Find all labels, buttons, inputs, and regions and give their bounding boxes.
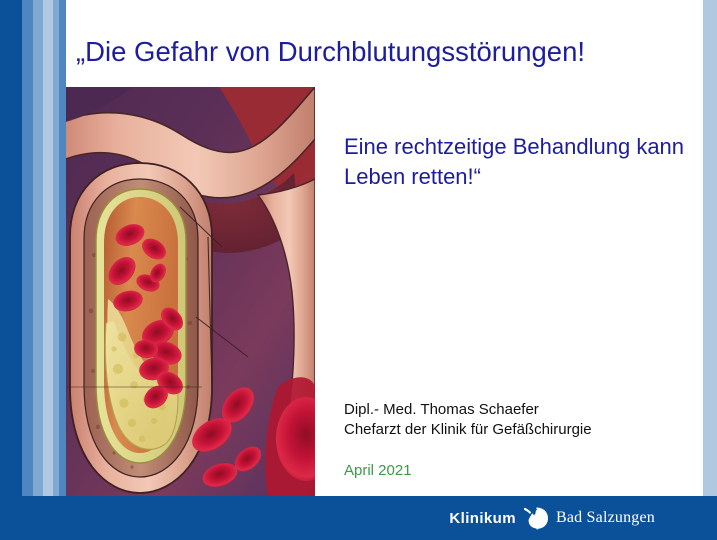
presentation-date: April 2021 <box>344 461 704 481</box>
logo-primary-text: Klinikum <box>449 510 516 527</box>
stripe-light-blue-1 <box>33 0 43 540</box>
page-title: „Die Gefahr von Durchblutungsstörungen! <box>76 36 696 68</box>
stripe-medium-blue-2 <box>59 0 66 540</box>
presentation-slide: „Die Gefahr von Durchblutungsstörungen! … <box>0 0 717 540</box>
presenter-role: Chefarzt der Klinik für Gefäßchirurgie <box>344 420 704 440</box>
left-stripe-band <box>0 0 66 540</box>
right-edge-stripe <box>703 0 717 540</box>
hospital-logo: Klinikum Bad Salzungen <box>449 506 655 530</box>
stripe-medium-blue-1 <box>22 0 33 540</box>
presenter-name: Dipl.- Med. Thomas Schaefer <box>344 400 704 420</box>
leaf-icon <box>523 506 549 530</box>
slide-subtitle: Eine rechtzeitige Behandlung kann Leben … <box>344 132 694 192</box>
footer-bar: Klinikum Bad Salzungen <box>0 496 717 540</box>
stripe-dark-blue <box>0 0 22 540</box>
presenter-block: Dipl.- Med. Thomas Schaefer Chefarzt der… <box>344 400 704 481</box>
logo-secondary-text: Bad Salzungen <box>556 509 655 527</box>
artery-illustration <box>62 87 315 496</box>
stripe-pale-blue <box>43 0 53 540</box>
